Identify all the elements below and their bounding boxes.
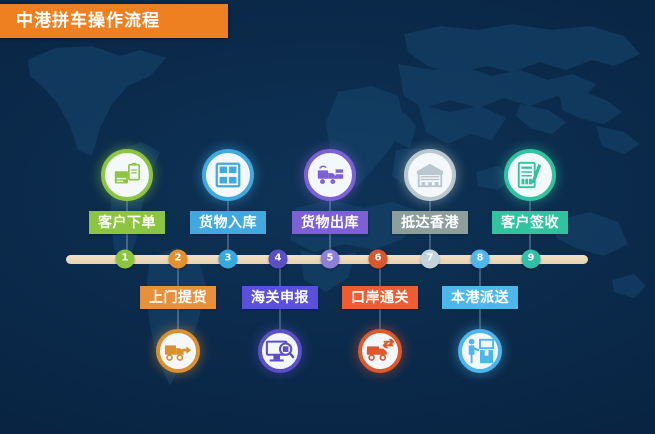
connector-line: [530, 201, 531, 211]
customs-declaration-monitor-icon[interactable]: [258, 329, 302, 373]
truck-loading-icon[interactable]: [304, 149, 356, 201]
warehouse-building-icon[interactable]: [404, 149, 456, 201]
timeline-node-5[interactable]: 5: [321, 250, 340, 269]
customs-clearance-truck-icon[interactable]: [358, 329, 402, 373]
step-label-chip[interactable]: 货物出库: [292, 211, 368, 234]
step-label-chip[interactable]: 本港派送: [442, 286, 518, 309]
step-label-chip[interactable]: 客户下单: [89, 211, 165, 234]
step-label-chip[interactable]: 上门提货: [140, 286, 216, 309]
connector-line: [280, 309, 281, 329]
timeline-node-7[interactable]: 7: [421, 250, 440, 269]
step-label-chip[interactable]: 货物入库: [190, 211, 266, 234]
step-label-chip[interactable]: 抵达香港: [392, 211, 468, 234]
step-label-chip[interactable]: 海关申报: [242, 286, 318, 309]
connector-line: [330, 201, 331, 211]
local-delivery-person-icon[interactable]: [458, 329, 502, 373]
timeline-node-number: 3: [225, 254, 232, 264]
page-title-banner: 中港拼车操作流程: [0, 4, 228, 38]
timeline-node-4[interactable]: 4: [269, 250, 288, 269]
connector-line: [228, 201, 229, 211]
connector-line: [178, 309, 179, 329]
timeline-node-9[interactable]: 9: [522, 250, 541, 269]
timeline-node-3[interactable]: 3: [219, 250, 238, 269]
connector-line: [480, 309, 481, 329]
timeline-node-number: 8: [477, 254, 484, 264]
warehouse-shelf-icon[interactable]: [202, 149, 254, 201]
timeline-node-number: 2: [175, 254, 182, 264]
pickup-truck-icon[interactable]: [156, 329, 200, 373]
step-label-chip[interactable]: 客户签收: [492, 211, 568, 234]
timeline-node-number: 7: [427, 254, 434, 264]
step-label-chip[interactable]: 口岸通关: [342, 286, 418, 309]
connector-line: [430, 201, 431, 211]
timeline-node-number: 6: [375, 254, 382, 264]
page-title: 中港拼车操作流程: [16, 13, 160, 30]
signed-document-icon[interactable]: [504, 149, 556, 201]
timeline-node-1[interactable]: 1: [116, 250, 135, 269]
timeline-node-8[interactable]: 8: [471, 250, 490, 269]
connector-line: [380, 309, 381, 329]
timeline-node-2[interactable]: 2: [169, 250, 188, 269]
connector-line: [127, 201, 128, 211]
timeline-node-number: 5: [327, 254, 334, 264]
timeline-node-number: 9: [528, 254, 535, 264]
order-clipboard-icon[interactable]: [101, 149, 153, 201]
timeline-node-number: 1: [122, 254, 129, 264]
timeline-node-6[interactable]: 6: [369, 250, 388, 269]
timeline-node-number: 4: [275, 254, 282, 264]
infographic-canvas: 中港拼车操作流程 客户下单货物入库货物出库抵达香港客户签收上门提货海关申报口岸通…: [0, 0, 655, 434]
